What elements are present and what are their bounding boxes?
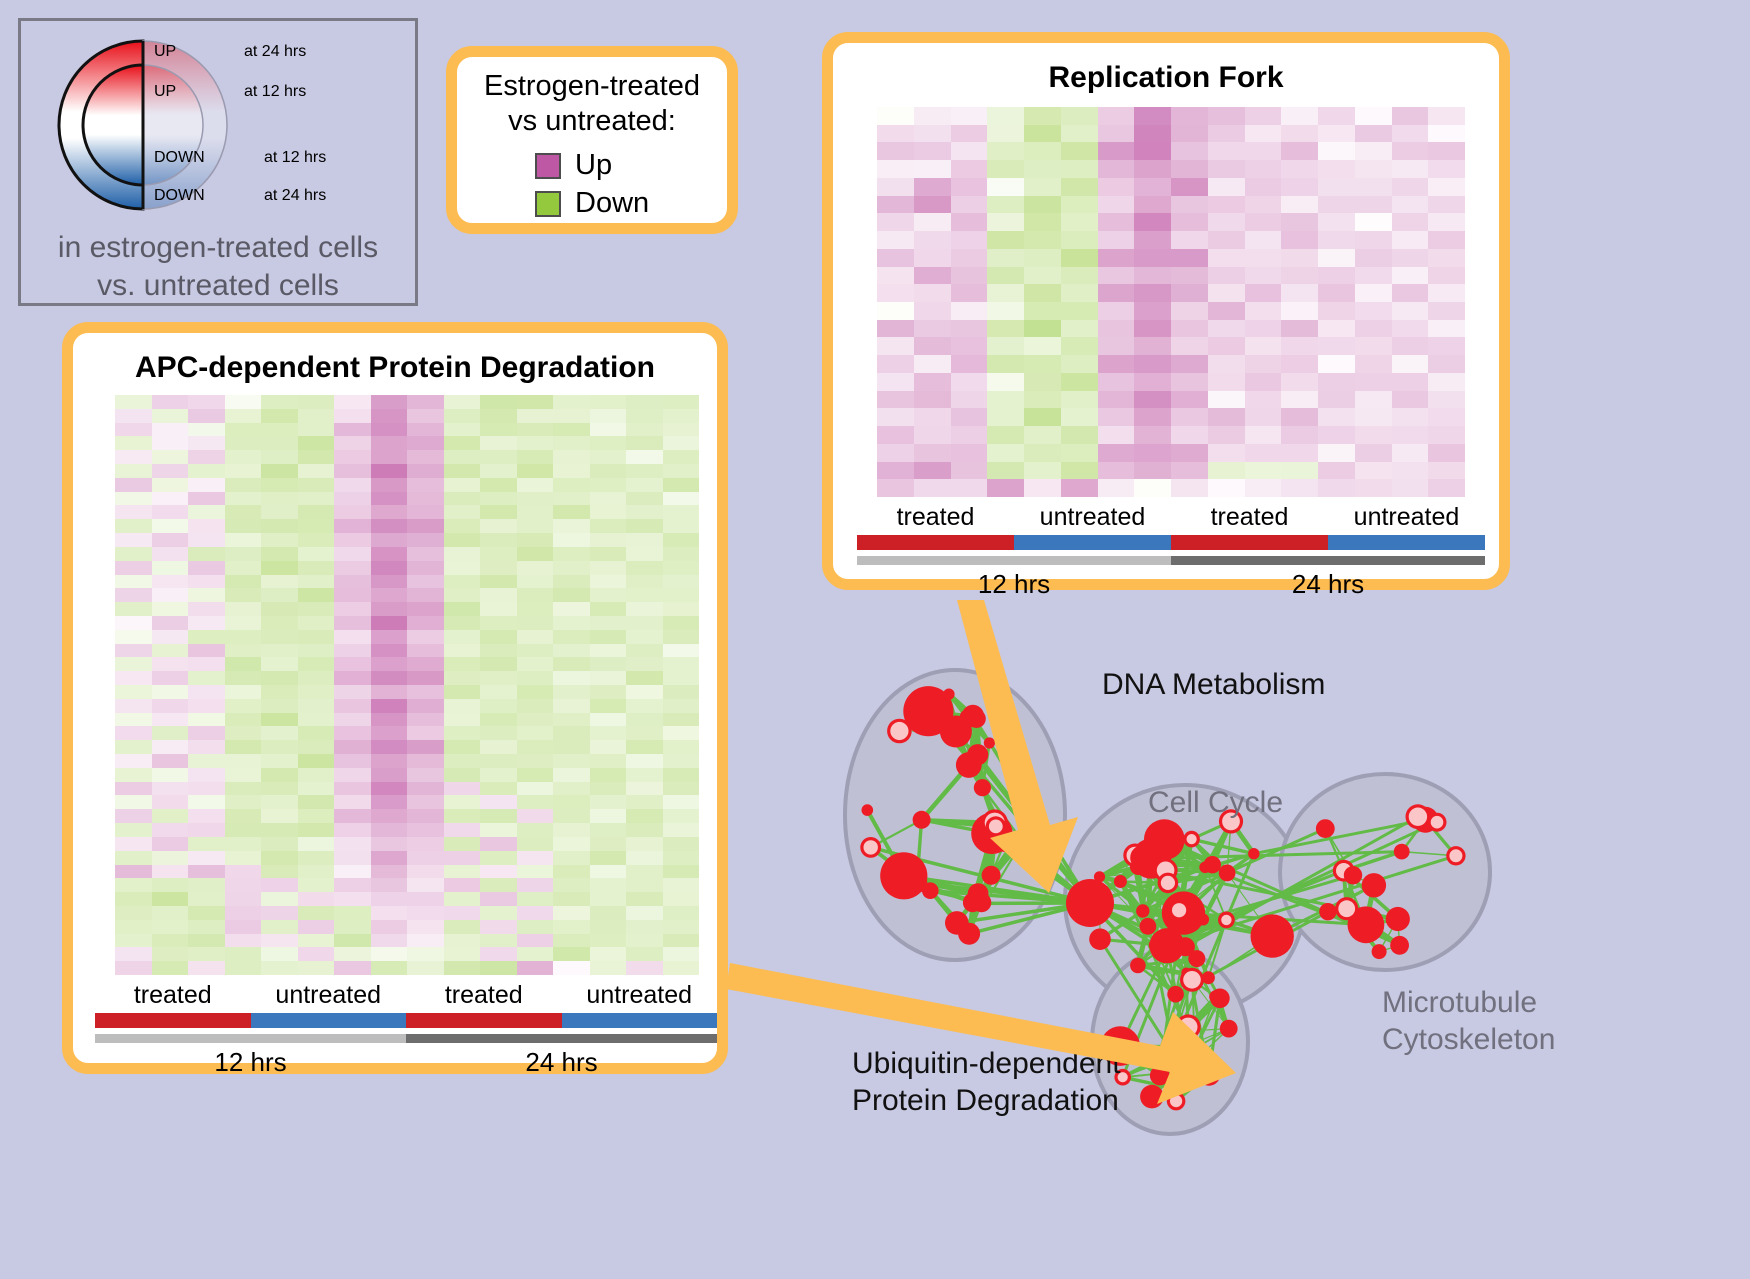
figure-root: UP at 24 hrs UP at 12 hrs DOWN at 12 hrs…	[0, 0, 1750, 1279]
col-label-3: untreated	[1328, 503, 1485, 532]
time-bar-24h	[1171, 556, 1485, 565]
key-word-down-24: DOWN	[154, 187, 205, 205]
expression-key-box: UP at 24 hrs UP at 12 hrs DOWN at 12 hrs…	[18, 18, 418, 306]
key-time-up-24: at 24 hrs	[244, 43, 306, 61]
time-label-12h: 12 hrs	[857, 569, 1171, 600]
down-color-swatch	[535, 191, 561, 217]
legend-label-up: Up	[575, 149, 612, 182]
untreated-bar-12h	[251, 1013, 407, 1028]
apc-treatment-bar	[95, 1013, 717, 1028]
treated-bar-24h	[1171, 535, 1328, 550]
replication-fork-column-labels: treated untreated treated untreated	[857, 503, 1485, 532]
replication-fork-title: Replication Fork	[833, 61, 1499, 95]
cluster-label-microtubule-line2: Cytoskeleton	[1382, 1022, 1555, 1059]
col-label-3: untreated	[562, 981, 718, 1010]
key-time-up-12: at 12 hrs	[244, 83, 306, 101]
col-label-0: treated	[857, 503, 1014, 532]
treated-bar-24h	[406, 1013, 562, 1028]
legend-heading-line2: vs untreated:	[457, 104, 727, 139]
cluster-label-ubiquitin-line1: Ubiquitin-dependent	[852, 1046, 1121, 1083]
time-label-12h: 12 hrs	[95, 1047, 406, 1078]
key-word-up-24: UP	[154, 43, 176, 61]
key-time-down-24: at 24 hrs	[264, 187, 326, 205]
time-bar-24h	[406, 1034, 717, 1043]
untreated-bar-24h	[1328, 535, 1485, 550]
key-time-down-12: at 12 hrs	[264, 149, 326, 167]
replication-fork-panel: Replication Fork treated untreated treat…	[822, 32, 1510, 590]
apc-column-labels: treated untreated treated untreated	[95, 981, 717, 1010]
treated-bar-12h	[857, 535, 1014, 550]
legend-item-up: Up	[535, 149, 612, 182]
legend-heading: Estrogen-treated vs untreated:	[457, 69, 727, 140]
apc-time-labels: 12 hrs 24 hrs	[95, 1047, 717, 1078]
replication-fork-time-bar	[857, 556, 1485, 565]
cluster-label-dna-metabolism: DNA Metabolism	[1102, 667, 1325, 704]
untreated-bar-12h	[1014, 535, 1171, 550]
time-label-24h: 24 hrs	[406, 1047, 717, 1078]
cluster-label-ubiquitin-line2: Protein Degradation	[852, 1083, 1121, 1120]
legend-item-down: Down	[535, 187, 649, 220]
apc-degradation-panel: APC-dependent Protein Degradation treate…	[62, 322, 728, 1074]
treated-bar-12h	[95, 1013, 251, 1028]
expression-donut-icon	[53, 35, 233, 215]
cluster-label-microtubule-line1: Microtubule	[1382, 985, 1555, 1022]
key-caption-line1: in estrogen-treated cells	[21, 229, 415, 267]
up-color-swatch	[535, 153, 561, 179]
col-label-1: untreated	[1014, 503, 1171, 532]
key-word-up-12: UP	[154, 83, 176, 101]
time-bar-12h	[857, 556, 1171, 565]
legend-heading-line1: Estrogen-treated	[457, 69, 727, 104]
replication-fork-treatment-bar	[857, 535, 1485, 550]
col-label-2: treated	[1171, 503, 1328, 532]
key-word-down-12: DOWN	[154, 149, 205, 167]
col-label-1: untreated	[251, 981, 407, 1010]
legend-label-down: Down	[575, 187, 649, 220]
replication-fork-time-labels: 12 hrs 24 hrs	[857, 569, 1485, 600]
apc-time-bar	[95, 1034, 717, 1043]
time-label-24h: 24 hrs	[1171, 569, 1485, 600]
key-caption-line2: vs. untreated cells	[21, 267, 415, 305]
time-bar-12h	[95, 1034, 406, 1043]
apc-degradation-heatmap	[115, 395, 699, 975]
color-legend-panel: Estrogen-treated vs untreated: Up Down	[446, 46, 738, 234]
cluster-label-ubiquitin: Ubiquitin-dependent Protein Degradation	[852, 1046, 1121, 1119]
untreated-bar-24h	[562, 1013, 718, 1028]
col-label-0: treated	[95, 981, 251, 1010]
cluster-label-microtubule: Microtubule Cytoskeleton	[1382, 985, 1555, 1058]
replication-fork-heatmap	[877, 107, 1465, 497]
cluster-label-cell-cycle: Cell Cycle	[1148, 785, 1283, 822]
apc-panel-title: APC-dependent Protein Degradation	[73, 351, 717, 385]
key-caption: in estrogen-treated cells vs. untreated …	[21, 229, 415, 306]
col-label-2: treated	[406, 981, 562, 1010]
